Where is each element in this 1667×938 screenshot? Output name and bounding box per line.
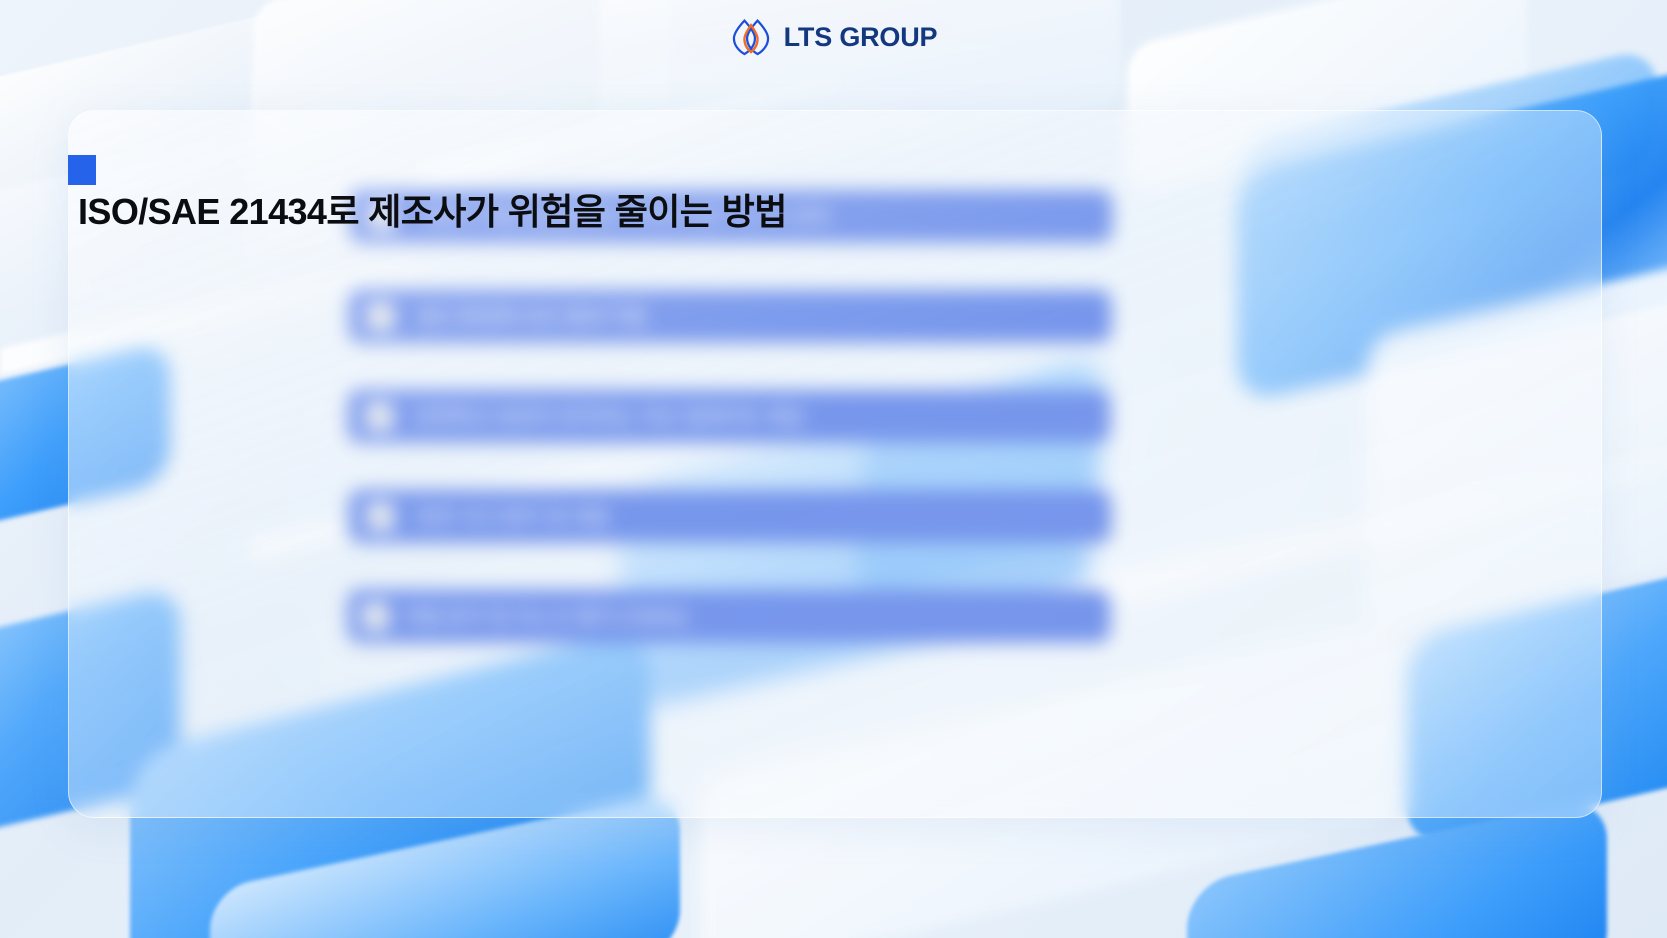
title-accent-square [68,155,96,185]
lts-flame-logo-icon [730,16,772,58]
brand-name: LTS GROUP [784,22,938,53]
page-title: ISO/SAE 21434로 제조사가 위험을 줄이는 방법 [78,183,787,235]
slide-canvas: LTS GROUP ISO/SAE 21434로 제조사가 위험을 줄이는 방법… [0,0,1667,938]
brand-logo: LTS GROUP [0,16,1667,58]
